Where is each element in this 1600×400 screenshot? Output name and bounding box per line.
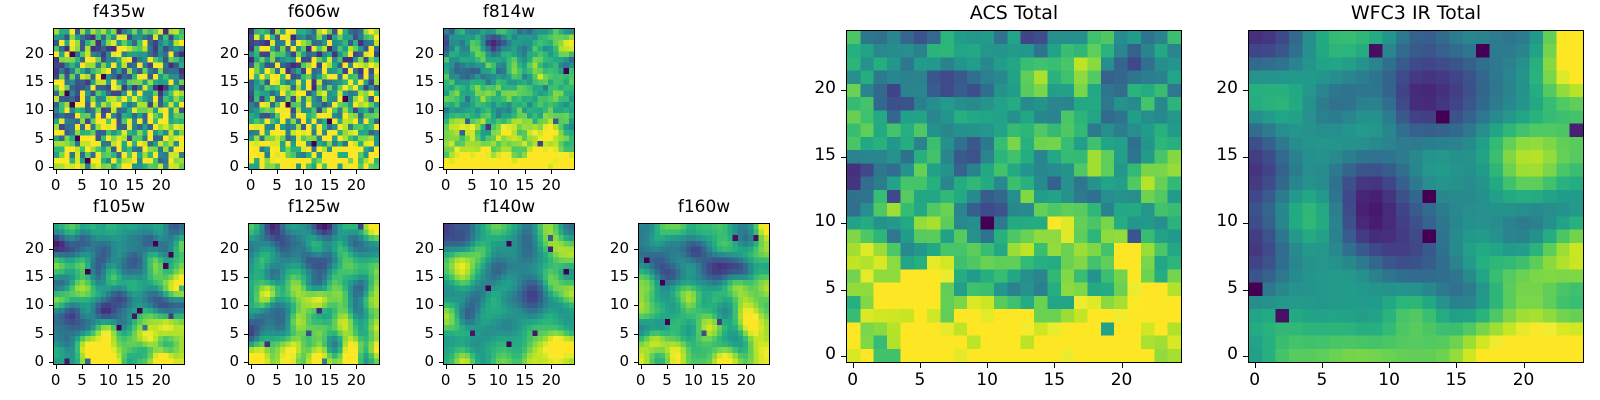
x-tick-label: 0	[1225, 372, 1285, 389]
y-tick-label: 5	[776, 280, 836, 297]
y-tick-mark	[439, 305, 443, 306]
y-tick-label: 0	[569, 354, 629, 369]
x-tick-mark	[251, 365, 252, 369]
y-tick-mark	[49, 110, 53, 111]
y-tick-label: 20	[179, 46, 239, 61]
x-tick-label: 20	[1494, 372, 1554, 389]
y-tick-mark	[439, 249, 443, 250]
x-tick-mark	[330, 170, 331, 174]
heatmap-image	[444, 224, 574, 364]
plot-area	[846, 30, 1182, 363]
heatmap-image	[444, 29, 574, 169]
y-tick-mark	[49, 82, 53, 83]
x-tick-mark	[1054, 363, 1055, 368]
x-tick-mark	[1524, 363, 1525, 368]
x-tick-label: 20	[1092, 372, 1152, 389]
x-tick-mark	[277, 365, 278, 369]
x-tick-mark	[853, 363, 854, 368]
y-tick-mark	[1243, 90, 1248, 91]
y-tick-mark	[1243, 290, 1248, 291]
x-tick-label: 20	[326, 373, 386, 388]
y-tick-mark	[841, 157, 846, 158]
x-tick-mark	[303, 170, 304, 174]
x-tick-mark	[720, 365, 721, 369]
y-tick-mark	[634, 277, 638, 278]
panel-title: f140w	[443, 199, 575, 216]
heatmap-image	[1249, 31, 1583, 362]
y-tick-mark	[1243, 157, 1248, 158]
plot-area	[53, 28, 185, 170]
y-tick-mark	[244, 305, 248, 306]
x-tick-mark	[330, 365, 331, 369]
x-tick-mark	[472, 365, 473, 369]
y-tick-label: 20	[374, 46, 434, 61]
x-tick-mark	[551, 365, 552, 369]
panel-title: f435w	[53, 4, 185, 21]
y-tick-mark	[49, 139, 53, 140]
y-tick-mark	[244, 110, 248, 111]
x-tick-label: 20	[131, 373, 191, 388]
panel-title: f125w	[248, 199, 380, 216]
x-tick-mark	[498, 170, 499, 174]
heatmap-image	[249, 224, 379, 364]
y-tick-mark	[634, 305, 638, 306]
heatmap-image	[249, 29, 379, 169]
y-tick-mark	[49, 277, 53, 278]
y-tick-label: 15	[374, 74, 434, 89]
y-tick-mark	[439, 334, 443, 335]
plot-area	[443, 223, 575, 365]
x-tick-mark	[1456, 363, 1457, 368]
y-tick-label: 20	[0, 46, 44, 61]
x-tick-mark	[56, 365, 57, 369]
x-tick-mark	[987, 363, 988, 368]
y-tick-label: 5	[374, 131, 434, 146]
y-tick-label: 15	[0, 269, 44, 284]
y-tick-label: 5	[569, 326, 629, 341]
y-tick-label: 15	[569, 269, 629, 284]
y-tick-label: 20	[776, 80, 836, 97]
y-tick-mark	[49, 362, 53, 363]
x-tick-label: 5	[890, 372, 950, 389]
x-tick-label: 0	[823, 372, 883, 389]
panel-title: WFC3 IR Total	[1248, 4, 1584, 23]
x-tick-mark	[135, 170, 136, 174]
y-tick-label: 5	[179, 326, 239, 341]
y-tick-label: 20	[179, 241, 239, 256]
y-tick-mark	[841, 290, 846, 291]
x-tick-mark	[1322, 363, 1323, 368]
y-tick-label: 0	[179, 159, 239, 174]
x-tick-mark	[108, 365, 109, 369]
heatmap-image	[639, 224, 769, 364]
plot-area	[53, 223, 185, 365]
panel-title: f160w	[638, 199, 770, 216]
x-tick-mark	[1122, 363, 1123, 368]
plot-area	[248, 28, 380, 170]
y-tick-mark	[439, 167, 443, 168]
y-tick-mark	[439, 82, 443, 83]
x-tick-mark	[525, 365, 526, 369]
y-tick-mark	[634, 334, 638, 335]
plot-area	[638, 223, 770, 365]
x-tick-label: 5	[1292, 372, 1352, 389]
y-tick-mark	[439, 362, 443, 363]
x-tick-label: 20	[716, 373, 776, 388]
y-tick-label: 15	[0, 74, 44, 89]
x-tick-mark	[472, 170, 473, 174]
y-tick-mark	[439, 139, 443, 140]
y-tick-label: 15	[179, 74, 239, 89]
y-tick-mark	[634, 249, 638, 250]
y-tick-label: 15	[776, 147, 836, 164]
x-tick-mark	[1389, 363, 1390, 368]
y-tick-label: 20	[374, 241, 434, 256]
x-tick-mark	[356, 365, 357, 369]
y-tick-mark	[439, 54, 443, 55]
y-tick-mark	[49, 167, 53, 168]
x-tick-mark	[135, 365, 136, 369]
panel-title: f606w	[248, 4, 380, 21]
x-tick-mark	[82, 170, 83, 174]
x-tick-mark	[356, 170, 357, 174]
y-tick-mark	[244, 362, 248, 363]
y-tick-label: 0	[179, 354, 239, 369]
y-tick-label: 10	[374, 102, 434, 117]
y-tick-label: 20	[1178, 80, 1238, 97]
x-tick-mark	[251, 170, 252, 174]
y-tick-label: 10	[374, 297, 434, 312]
y-tick-label: 15	[179, 269, 239, 284]
y-tick-mark	[841, 223, 846, 224]
panel-title: f105w	[53, 199, 185, 216]
y-tick-mark	[1243, 223, 1248, 224]
y-tick-mark	[49, 305, 53, 306]
y-tick-mark	[244, 277, 248, 278]
y-tick-mark	[49, 54, 53, 55]
y-tick-label: 10	[776, 213, 836, 230]
x-tick-mark	[446, 365, 447, 369]
y-tick-label: 5	[0, 326, 44, 341]
y-tick-label: 0	[374, 159, 434, 174]
x-tick-label: 20	[521, 178, 581, 193]
y-tick-mark	[244, 82, 248, 83]
x-tick-label: 10	[957, 372, 1017, 389]
y-tick-label: 15	[374, 269, 434, 284]
heatmap-image	[54, 29, 184, 169]
y-tick-mark	[439, 277, 443, 278]
y-tick-label: 10	[179, 297, 239, 312]
y-tick-mark	[1243, 356, 1248, 357]
y-tick-label: 5	[374, 326, 434, 341]
y-tick-label: 10	[1178, 213, 1238, 230]
x-tick-mark	[551, 170, 552, 174]
y-tick-label: 10	[0, 102, 44, 117]
x-tick-mark	[108, 170, 109, 174]
plot-area	[248, 223, 380, 365]
y-tick-label: 10	[179, 102, 239, 117]
x-tick-mark	[161, 170, 162, 174]
y-tick-mark	[244, 334, 248, 335]
y-tick-label: 0	[776, 346, 836, 363]
x-tick-mark	[277, 170, 278, 174]
x-tick-mark	[303, 365, 304, 369]
y-tick-label: 0	[1178, 346, 1238, 363]
x-tick-mark	[446, 170, 447, 174]
plot-area	[443, 28, 575, 170]
y-tick-label: 0	[0, 159, 44, 174]
y-tick-mark	[49, 249, 53, 250]
x-tick-label: 20	[521, 373, 581, 388]
x-tick-mark	[693, 365, 694, 369]
x-tick-mark	[498, 365, 499, 369]
y-tick-label: 20	[569, 241, 629, 256]
x-tick-mark	[82, 365, 83, 369]
x-tick-mark	[525, 170, 526, 174]
plot-area	[1248, 30, 1584, 363]
x-tick-mark	[920, 363, 921, 368]
y-tick-mark	[439, 110, 443, 111]
y-tick-mark	[244, 167, 248, 168]
y-tick-mark	[244, 54, 248, 55]
panel-title: f814w	[443, 4, 575, 21]
y-tick-label: 10	[569, 297, 629, 312]
figure-canvas: f435w0510152005101520f606w05101520051015…	[0, 0, 1600, 400]
panel-title: ACS Total	[846, 4, 1182, 23]
y-tick-label: 5	[0, 131, 44, 146]
x-tick-mark	[161, 365, 162, 369]
y-tick-label: 0	[374, 354, 434, 369]
x-tick-label: 10	[1359, 372, 1419, 389]
heatmap-image	[847, 31, 1181, 362]
y-tick-mark	[841, 356, 846, 357]
x-tick-mark	[746, 365, 747, 369]
y-tick-mark	[244, 139, 248, 140]
y-tick-mark	[49, 334, 53, 335]
y-tick-mark	[634, 362, 638, 363]
y-tick-label: 5	[179, 131, 239, 146]
x-tick-label: 15	[1024, 372, 1084, 389]
y-tick-label: 10	[0, 297, 44, 312]
y-tick-mark	[244, 249, 248, 250]
y-tick-label: 5	[1178, 280, 1238, 297]
y-tick-label: 20	[0, 241, 44, 256]
x-tick-mark	[641, 365, 642, 369]
x-tick-label: 20	[326, 178, 386, 193]
x-tick-mark	[1255, 363, 1256, 368]
x-tick-mark	[56, 170, 57, 174]
x-tick-mark	[667, 365, 668, 369]
y-tick-label: 0	[0, 354, 44, 369]
y-tick-mark	[841, 90, 846, 91]
y-tick-label: 15	[1178, 147, 1238, 164]
x-tick-label: 20	[131, 178, 191, 193]
x-tick-label: 15	[1426, 372, 1486, 389]
heatmap-image	[54, 224, 184, 364]
